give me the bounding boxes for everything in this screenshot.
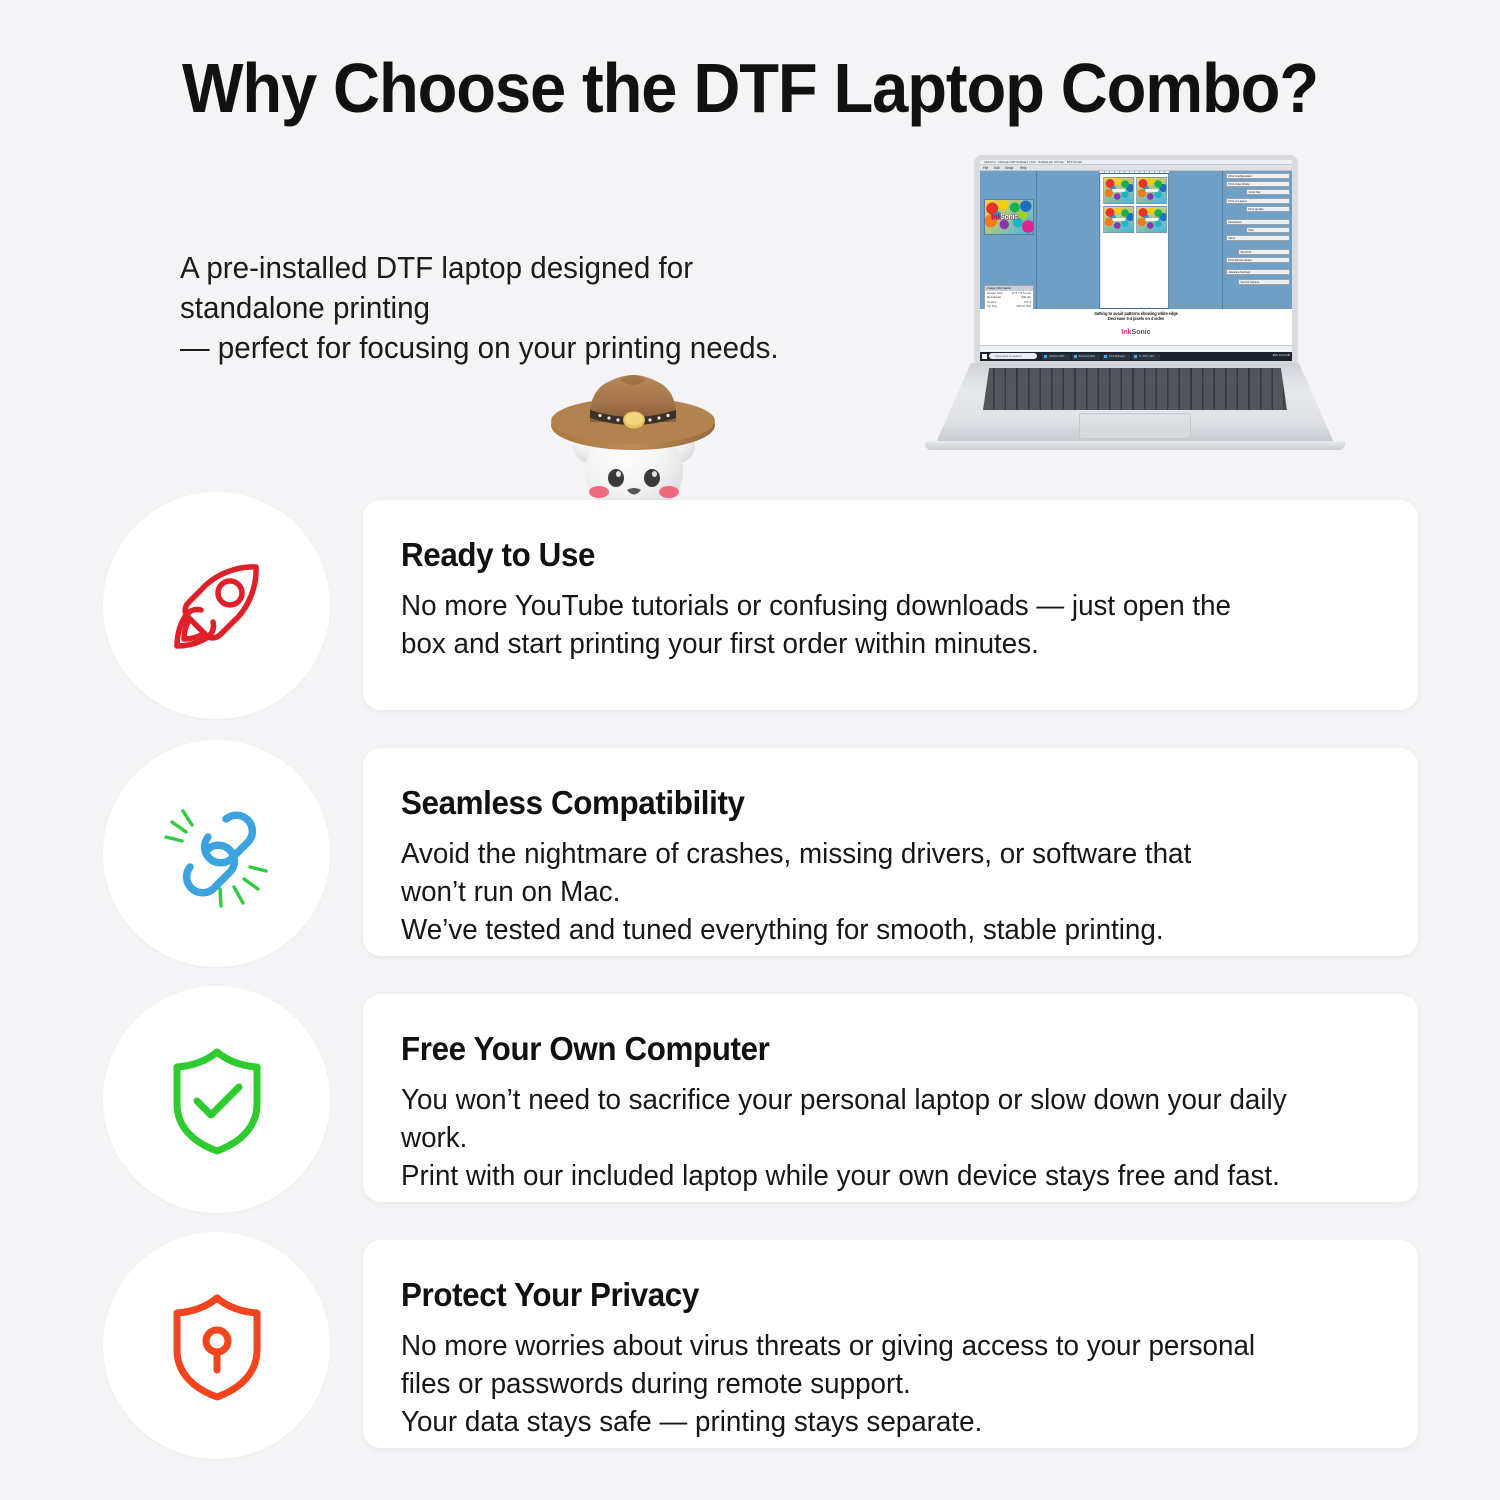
feature-card: Seamless Compatibility Avoid the nightma… (363, 748, 1418, 956)
feature-title: Protect Your Privacy (401, 1276, 1325, 1314)
feature-body: No more worries about virus threats or g… (401, 1327, 1350, 1441)
right-panel-item[interactable]: Set Ink Volume (1238, 279, 1290, 285)
print-sheet[interactable] (1099, 173, 1169, 309)
right-panel-item[interactable]: Print Configuration (1226, 173, 1290, 179)
feature-body-line: Print with our included laptop while you… (401, 1157, 1350, 1195)
intro-line-3: — perfect for focusing on your printing … (180, 328, 878, 368)
windows-taskbar: Type here to search InkSonic RIP Documen… (980, 352, 1292, 361)
feature-body: Avoid the nightmare of crashes, missing … (401, 835, 1350, 949)
feature-body-line: We’ve tested and tuned everything for sm… (401, 911, 1350, 949)
right-panel-item[interactable]: Print of Layout (1226, 198, 1290, 204)
feature-icon-circle (103, 492, 330, 719)
right-panel-item[interactable]: Print Color Mode (1226, 181, 1290, 187)
print-thumbnail[interactable] (1136, 177, 1167, 204)
right-panel-item[interactable]: Other (1226, 235, 1290, 241)
feature-body-line: files or passwords during remote support… (401, 1365, 1350, 1403)
right-panel-item[interactable]: Set Print (1238, 249, 1290, 255)
laptop-screen: InkSonic - InkSonic RIP Software | Job :… (980, 160, 1292, 361)
print-job-grid (1103, 177, 1167, 233)
menu-item-edit[interactable]: Edit (994, 166, 1000, 171)
menu-item-file[interactable]: File (983, 166, 988, 171)
shield-lock-icon (155, 1284, 279, 1408)
print-thumbnail[interactable] (1103, 206, 1134, 233)
taskbar-app-item[interactable]: Print Manager (1102, 354, 1130, 360)
right-panel-item[interactable]: Size (1246, 227, 1290, 233)
right-panel-item[interactable]: Color Set (1246, 189, 1290, 195)
right-panel-item[interactable]: Print Quality (1246, 206, 1290, 212)
feature-body: You won’t need to sacrifice your persona… (401, 1081, 1350, 1195)
menu-item-setup[interactable]: Setup (1005, 166, 1013, 171)
feature-body-line: No more YouTube tutorials or confusing d… (401, 587, 1350, 625)
software-status-bar (980, 345, 1292, 352)
right-panel-item[interactable]: Advance Settings (1226, 269, 1290, 275)
chain-link-icon (152, 789, 282, 919)
menu-item-help[interactable]: Help (1020, 166, 1027, 171)
feature-body: No more YouTube tutorials or confusing d… (401, 587, 1350, 663)
taskbar-system-tray[interactable]: ENG 10:24 AM (1273, 354, 1290, 357)
laptop-illustration: InkSonic - InkSonic RIP Software | Job :… (925, 155, 1345, 475)
bear-mascot (528, 368, 738, 518)
print-thumbnail[interactable] (1103, 177, 1134, 204)
laptop-base (935, 363, 1335, 445)
feature-body-line: Your data stays safe — printing stays se… (401, 1403, 1350, 1441)
intro-line-2: standalone printing (180, 288, 878, 328)
feature-body-line: box and start printing your first order … (401, 625, 1350, 663)
taskbar-app-item[interactable]: C:\ DTF Jobs (1132, 354, 1160, 360)
inksonic-logo-text: InkSonic (991, 214, 1018, 221)
feature-body-line: You won’t need to sacrifice your persona… (401, 1081, 1350, 1119)
feature-title: Free Your Own Computer (401, 1030, 1325, 1068)
inksonic-logo-image: InkSonic (984, 199, 1034, 235)
bear-mascot-icon (528, 368, 738, 518)
taskbar-app-item[interactable]: Document001 (1072, 354, 1100, 360)
feature-body-line: No more worries about virus threats or g… (401, 1327, 1350, 1365)
feature-icon-circle (103, 986, 330, 1213)
feature-title: Seamless Compatibility (401, 784, 1325, 822)
feature-icon-circle (103, 740, 330, 967)
right-panel-item[interactable]: Resolution (1226, 219, 1290, 225)
taskbar-app-item[interactable]: InkSonic RIP (1042, 354, 1070, 360)
promo-page: Why Choose the DTF Laptop Combo? A pre-i… (0, 0, 1500, 1500)
feature-card: Ready to Use No more YouTube tutorials o… (363, 500, 1418, 710)
right-panel-item[interactable]: Print Device Setup (1226, 257, 1290, 263)
laptop-keyboard (983, 368, 1287, 410)
laptop-trackpad (1079, 413, 1191, 439)
laptop-lid: InkSonic - InkSonic RIP Software | Job :… (975, 155, 1297, 367)
shield-check-icon (155, 1038, 279, 1162)
feature-card: Free Your Own Computer You won’t need to… (363, 994, 1418, 1202)
intro-paragraph: A pre-installed DTF laptop designed for … (180, 248, 878, 368)
rocket-icon (157, 546, 277, 666)
intro-line-1: A pre-installed DTF laptop designed for (180, 248, 878, 288)
taskbar-search-input[interactable]: Type here to search (989, 353, 1037, 359)
feature-body-line: Avoid the nightmare of crashes, missing … (401, 835, 1350, 873)
feature-body-line: won’t run on Mac. (401, 873, 1350, 911)
feature-title: Ready to Use (401, 536, 1325, 574)
laptop-front-edge (925, 441, 1345, 450)
canvas-caption-area: Setting to avoid patterns showing white … (980, 309, 1292, 345)
start-button-icon[interactable] (982, 354, 987, 359)
feature-body-line: work. (401, 1119, 1350, 1157)
print-thumbnail[interactable] (1136, 206, 1167, 233)
feature-card: Protect Your Privacy No more worries abo… (363, 1240, 1418, 1448)
inksonic-footer-logo: InkSonic (980, 329, 1292, 336)
software-workspace: InkSonic Image Information Output Size 1… (980, 171, 1292, 345)
page-title: Why Choose the DTF Laptop Combo? (53, 48, 1448, 128)
feature-icon-circle (103, 1232, 330, 1459)
caption-line-2: Decrease 3-4 pixels on 4 sides (980, 316, 1292, 321)
